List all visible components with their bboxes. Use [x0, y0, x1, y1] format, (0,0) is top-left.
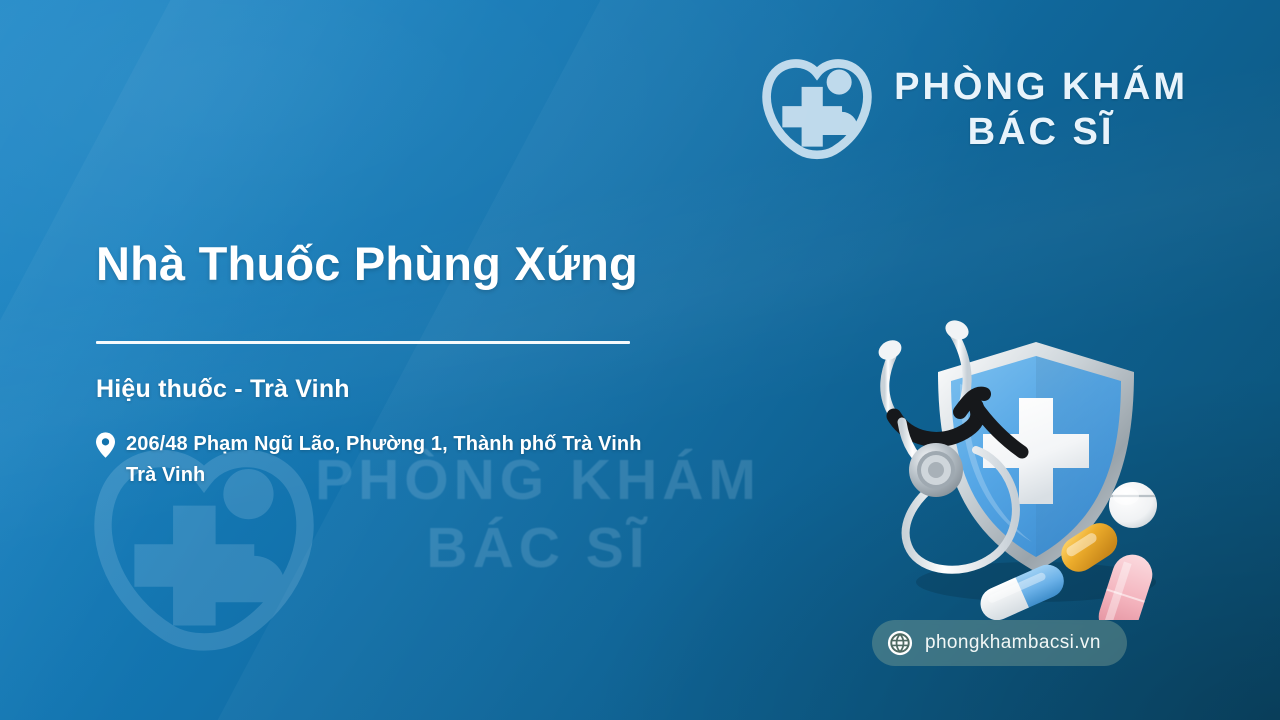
banner-canvas: PHÒNG KHÁM BÁC SĨ PHÒNG KHÁM BÁC SĨ Nhà …: [0, 0, 1280, 720]
address-text: 206/48 Phạm Ngũ Lão, Phường 1, Thành phố…: [126, 429, 642, 490]
brand-text: PHÒNG KHÁM BÁC SĨ: [894, 68, 1188, 152]
location-pin-icon: [96, 432, 115, 458]
title-divider: [96, 341, 630, 344]
page-title: Nhà Thuốc Phùng Xứng: [96, 236, 856, 291]
brand-logo: PHÒNG KHÁM BÁC SĨ: [758, 58, 1188, 162]
globe-icon: [887, 630, 913, 656]
address-line-2: Trà Vinh: [126, 464, 205, 486]
medical-heart-cross-doctor-icon: [758, 58, 876, 162]
website-badge[interactable]: phongkhambacsi.vn: [872, 620, 1127, 666]
round-tablet-pill-icon: [1109, 482, 1157, 528]
subtitle: Hiệu thuốc - Trà Vinh: [96, 375, 856, 404]
info-block: Nhà Thuốc Phùng Xứng Hiệu thuốc - Trà Vi…: [96, 236, 856, 490]
website-url: phongkhambacsi.vn: [925, 632, 1101, 654]
brand-line-1: PHÒNG KHÁM: [894, 68, 1188, 107]
watermark-line-2: BÁC SĨ: [303, 518, 773, 580]
address-line-1: 206/48 Phạm Ngũ Lão, Phường 1, Thành phố…: [126, 433, 642, 455]
address-block: 206/48 Phạm Ngũ Lão, Phường 1, Thành phố…: [96, 429, 856, 490]
brand-line-2: BÁC SĨ: [894, 113, 1188, 152]
medical-illustration: [836, 320, 1196, 620]
